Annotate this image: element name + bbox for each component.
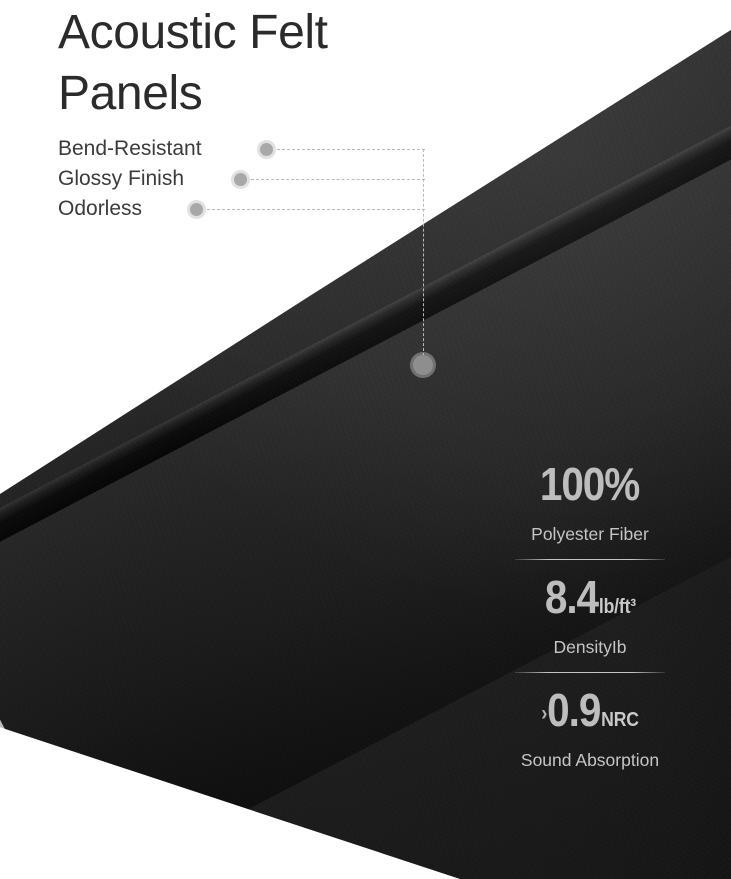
spec-unit: lb/ft³ bbox=[599, 596, 636, 618]
feature-item-glossy-finish: Glossy Finish bbox=[58, 164, 458, 194]
spec-value-row: 100% bbox=[506, 458, 673, 520]
leader-line-vertical bbox=[423, 149, 424, 361]
spec-value-row: ›0.9NRC bbox=[506, 684, 673, 746]
spec-divider bbox=[515, 559, 665, 560]
spec-value: 100% bbox=[540, 458, 639, 510]
bullet-dot-icon bbox=[190, 203, 203, 216]
feature-item-odorless: Odorless bbox=[58, 194, 458, 224]
feature-label: Odorless bbox=[58, 194, 142, 224]
spec-value: 0.9 bbox=[547, 684, 600, 736]
spec-divider bbox=[515, 672, 665, 673]
spec-value: 8.4 bbox=[545, 571, 598, 623]
spec-value-row: 8.4lb/ft³ bbox=[506, 571, 673, 633]
feature-item-bend-resistant: Bend-Resistant bbox=[58, 134, 458, 164]
spec-unit: NRC bbox=[601, 709, 639, 731]
spec-label: DensityIb bbox=[495, 635, 685, 659]
spec-item-sound-absorption: ›0.9NRC Sound Absorption bbox=[495, 684, 685, 772]
bullet-dot-icon bbox=[260, 143, 273, 156]
leader-line-horizontal bbox=[251, 179, 425, 180]
leader-line-horizontal bbox=[207, 209, 425, 210]
spec-label: Sound Absorption bbox=[495, 748, 685, 772]
spec-item-polyester-fiber: 100% Polyester Fiber bbox=[495, 458, 685, 546]
leader-endpoint-dot-icon bbox=[413, 355, 433, 375]
spec-label: Polyester Fiber bbox=[495, 522, 685, 546]
spec-prefix: › bbox=[541, 702, 546, 725]
leader-line-horizontal bbox=[277, 149, 425, 150]
feature-label: Bend-Resistant bbox=[58, 134, 202, 164]
page-title: Acoustic Felt Panels bbox=[58, 2, 478, 124]
feature-list: Bend-Resistant Glossy Finish Odorless bbox=[58, 134, 458, 224]
bullet-dot-icon bbox=[234, 173, 247, 186]
specification-overlay: 100% Polyester Fiber 8.4lb/ft³ DensityIb… bbox=[495, 458, 685, 772]
feature-label: Glossy Finish bbox=[58, 164, 184, 194]
product-image-canvas: Acoustic Felt Panels Bend-Resistant Glos… bbox=[0, 0, 731, 879]
spec-item-density: 8.4lb/ft³ DensityIb bbox=[495, 571, 685, 659]
